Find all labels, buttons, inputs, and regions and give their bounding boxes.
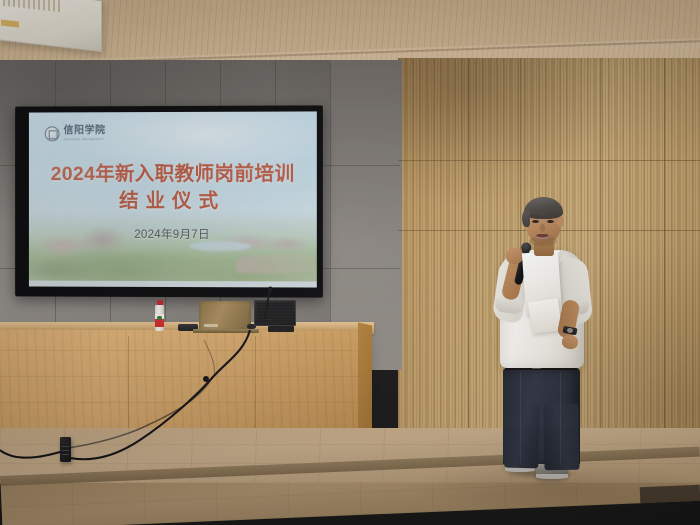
- speaker-leg-left: [504, 404, 540, 469]
- speaker-figure: [0, 0, 700, 525]
- lecture-hall-photo: 信阳学院 XINYANG UNIVERSITY 2024年新入职教师岗前培训 结…: [0, 0, 700, 525]
- speaker-shoe-sole-right: [536, 474, 568, 479]
- speaker-trouser-crease: [560, 372, 561, 464]
- speaker-trouser-crease: [520, 372, 521, 464]
- speaker-ear: [557, 216, 564, 227]
- speaker-mouth: [536, 234, 549, 239]
- speaker-leg-right: [543, 404, 579, 471]
- speaker-nose: [540, 224, 545, 232]
- speaker-hand-left: [506, 248, 523, 264]
- speaker-hair-side: [522, 210, 530, 227]
- speaker-eye-left: [532, 220, 539, 223]
- speaker-eye-right: [547, 220, 554, 223]
